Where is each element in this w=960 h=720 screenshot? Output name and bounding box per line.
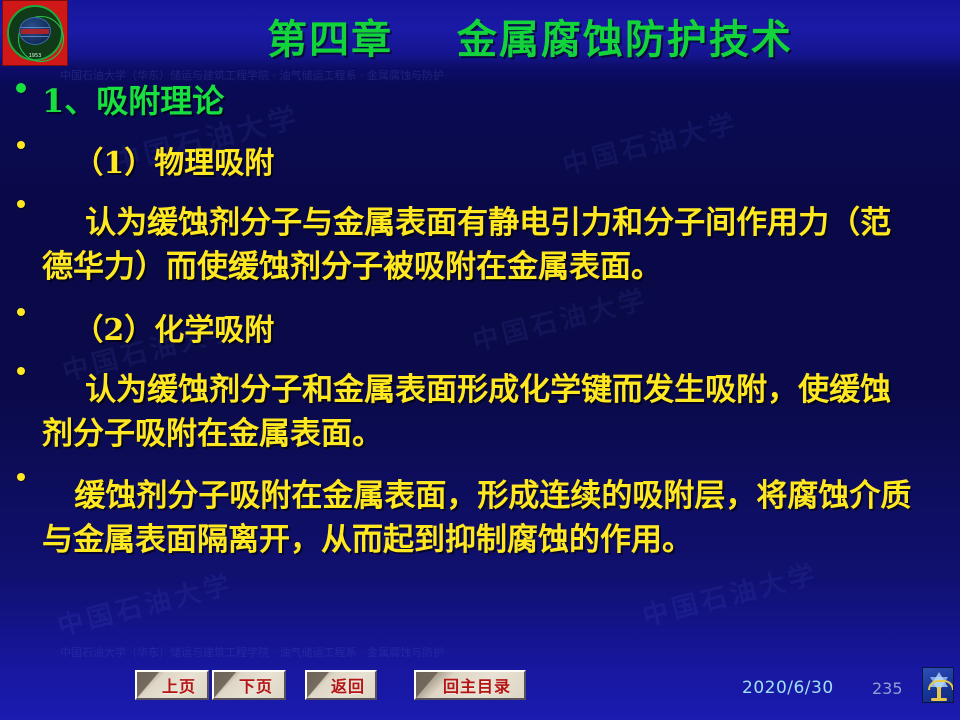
page-title: 第四章 金属腐蚀防护技术 [120,7,940,65]
previous-page-label: 上页 [148,673,196,697]
content-text: 认为缓蚀剂分子与金属表面有静电引力和分子间作用力（范德华力）而使缓蚀剂分子被吸附… [42,201,960,289]
content-block-para-3: 缓蚀剂分子吸附在金属表面，形成连续的吸附层，将腐蚀介质与金属表面隔离开，从而起到… [0,466,960,562]
content-block-heading: 1、吸附理论 [0,76,960,122]
slide-content: 1、吸附理论 （1）物理吸附 认为缓蚀剂分子与金属表面有静电引力和分子间作用力（… [0,72,960,632]
back-label: 返回 [317,673,365,697]
slide-header: 第四章 金属腐蚀防护技术 [0,0,960,68]
slide: 中国石油大学 中国石油大学 中国石油大学 中国石油大学 中国石油大学 中国石油大… [0,0,960,720]
bullet-marker-icon [0,76,42,93]
footer-date: 2020/6/30 [742,678,834,698]
bullet-marker-icon [0,466,42,481]
content-text: 缓蚀剂分子吸附在金属表面，形成连续的吸附层，将腐蚀介质与金属表面隔离开，从而起到… [42,474,960,562]
bullet-marker-icon [0,134,42,149]
main-menu-label: 回主目录 [429,673,511,697]
bullet-marker-icon [0,193,42,208]
content-text: （2）化学吸附 [42,311,960,350]
content-block-para-1: 认为缓蚀剂分子与金属表面有静电引力和分子间作用力（范德华力）而使缓蚀剂分子被吸附… [0,193,960,289]
logo-name-bar [21,29,49,34]
previous-page-button[interactable]: 上页 [135,670,209,700]
content-block-sub-2: （2）化学吸附 [0,301,960,350]
bullet-marker-icon [0,360,42,375]
menorah-star-icon [922,667,954,703]
content-text: （1）物理吸附 [42,144,960,183]
page-number: 235 [872,679,903,698]
menorah-base [931,698,947,701]
university-logo: 1953 [2,0,68,66]
content-block-para-2: 认为缓蚀剂分子和金属表面形成化学键而发生吸附，使缓蚀剂分子吸附在金属表面。 [0,360,960,456]
content-text: 认为缓蚀剂分子和金属表面形成化学键而发生吸附，使缓蚀剂分子吸附在金属表面。 [42,368,960,456]
back-button[interactable]: 返回 [305,670,377,700]
bullet-marker-icon [0,301,42,316]
next-page-label: 下页 [225,673,273,697]
content-block-sub-1: （1）物理吸附 [0,134,960,183]
main-menu-button[interactable]: 回主目录 [414,670,526,700]
content-text: 1、吸附理论 [42,80,960,122]
menorah-arms [928,680,954,690]
logo-year: 1953 [3,53,67,59]
slide-footer: 上页 下页 返回 回主目录 2020/6/30 235 [0,658,960,720]
next-page-button[interactable]: 下页 [212,670,286,700]
